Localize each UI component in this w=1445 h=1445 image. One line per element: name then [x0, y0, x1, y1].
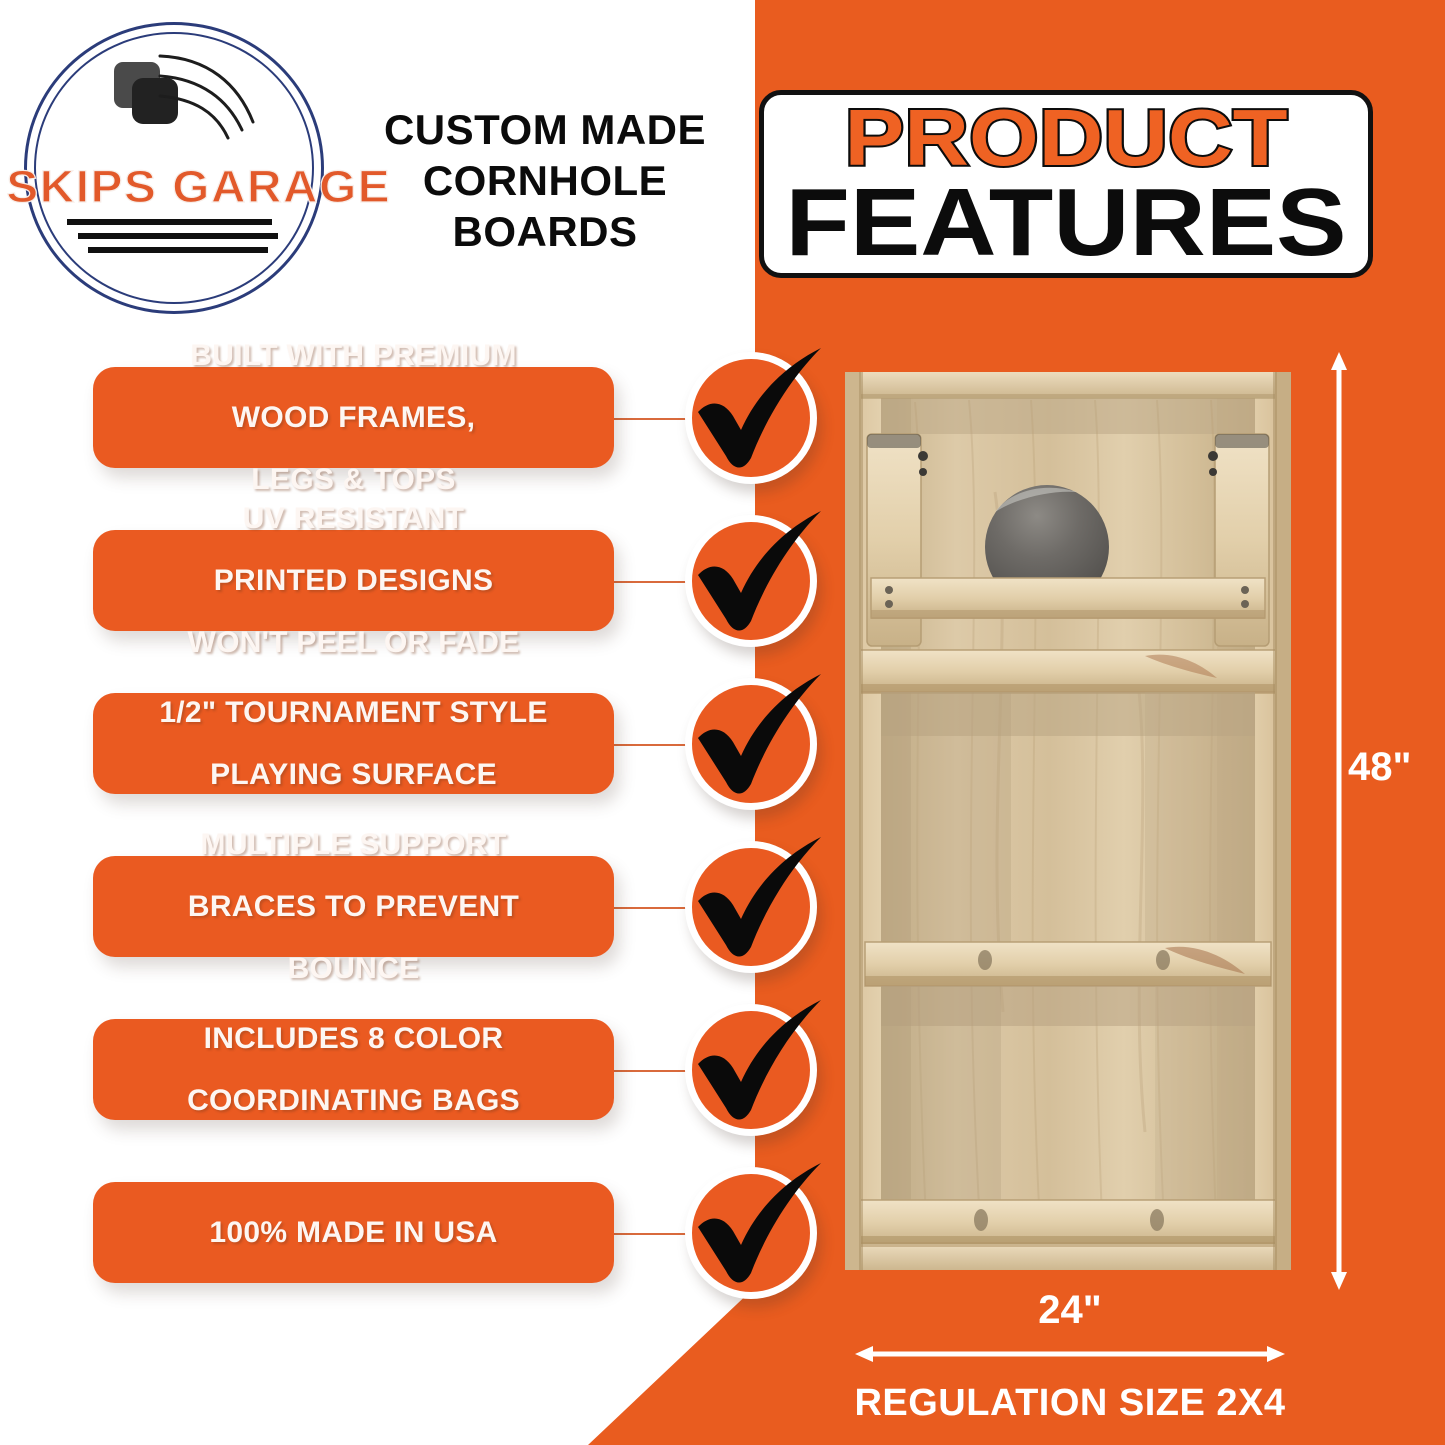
- feature-pill-2-text: UV RESISTANT PRINTED DESIGNS WON'T PEEL …: [111, 503, 596, 659]
- feature-pill-3[interactable]: 1/2" TOURNAMENT STYLE PLAYING SURFACE: [93, 693, 614, 794]
- feature-5-line-1: INCLUDES 8 COLOR: [111, 1023, 596, 1054]
- feature-pill-4-text: MULTIPLE SUPPORT BRACES TO PREVENT BOUNC…: [111, 829, 596, 985]
- feature-check-2: [685, 515, 817, 647]
- double-arrow-horizontal-icon: [855, 1345, 1285, 1363]
- feature-1-line-1: BUILT WITH PREMIUM: [111, 340, 596, 371]
- check-icon: [681, 664, 831, 814]
- logo-rule-2: [78, 233, 278, 239]
- check-icon: [681, 827, 831, 977]
- brand-logo: SKIPS GARAGE: [16, 14, 338, 324]
- page-title: CUSTOM MADE CORNHOLE BOARDS: [345, 104, 745, 258]
- feature-pill-5[interactable]: INCLUDES 8 COLOR COORDINATING BAGS: [93, 1019, 614, 1120]
- connector-line-5: [614, 1070, 688, 1072]
- feature-2-line-3: WON'T PEEL OR FADE: [111, 627, 596, 658]
- product-features-header: PRODUCT FEATURES: [759, 90, 1373, 278]
- page-title-line-3: BOARDS: [345, 206, 745, 257]
- feature-check-5: [685, 1004, 817, 1136]
- check-icon: [681, 1153, 831, 1303]
- feature-4-line-2: BRACES TO PREVENT: [111, 891, 596, 922]
- connector-line-3: [614, 744, 688, 746]
- feature-pill-1[interactable]: BUILT WITH PREMIUM WOOD FRAMES, LEGS & T…: [93, 367, 614, 468]
- connector-line-4: [614, 907, 688, 909]
- check-icon: [681, 501, 831, 651]
- feature-3-line-2: PLAYING SURFACE: [111, 759, 596, 790]
- header-title-features: FEATURES: [759, 177, 1373, 268]
- feature-1-line-3: LEGS & TOPS: [111, 464, 596, 495]
- header-title-product: PRODUCT: [759, 99, 1373, 177]
- page-title-line-2: CORNHOLE: [345, 155, 745, 206]
- check-icon: [681, 990, 831, 1140]
- feature-pill-2[interactable]: UV RESISTANT PRINTED DESIGNS WON'T PEEL …: [93, 530, 614, 631]
- feature-check-3: [685, 678, 817, 810]
- feature-pill-5-text: INCLUDES 8 COLOR COORDINATING BAGS: [111, 1023, 596, 1117]
- logo-rule-3: [88, 247, 268, 253]
- feature-3-line-1: 1/2" TOURNAMENT STYLE: [111, 697, 596, 728]
- height-dimension-label: 48": [1348, 745, 1411, 790]
- feature-pill-6-text: 100% MADE IN USA: [111, 1217, 596, 1248]
- motion-arcs-icon: [156, 52, 266, 147]
- feature-6-line-1: 100% MADE IN USA: [111, 1217, 596, 1248]
- logo-rule-1: [67, 219, 272, 225]
- feature-2-line-1: UV RESISTANT: [111, 503, 596, 534]
- feature-check-6: [685, 1167, 817, 1299]
- feature-pill-4[interactable]: MULTIPLE SUPPORT BRACES TO PREVENT BOUNC…: [93, 856, 614, 957]
- double-arrow-vertical-icon: [1330, 352, 1348, 1290]
- board-illustration: [845, 372, 1291, 1270]
- feature-4-line-3: BOUNCE: [111, 953, 596, 984]
- feature-pill-6[interactable]: 100% MADE IN USA: [93, 1182, 614, 1283]
- connector-line-6: [614, 1233, 688, 1235]
- feature-check-4: [685, 841, 817, 973]
- page-title-line-1: CUSTOM MADE: [345, 104, 745, 155]
- feature-pill-1-text: BUILT WITH PREMIUM WOOD FRAMES, LEGS & T…: [111, 340, 596, 496]
- feature-5-line-2: COORDINATING BAGS: [111, 1085, 596, 1116]
- feature-4-line-1: MULTIPLE SUPPORT: [111, 829, 596, 860]
- regulation-size-label: REGULATION SIZE 2X4: [830, 1382, 1310, 1425]
- width-dimension-label: 24": [855, 1288, 1285, 1333]
- check-icon: [681, 338, 831, 488]
- feature-check-1: [685, 352, 817, 484]
- feature-1-line-2: WOOD FRAMES,: [111, 402, 596, 433]
- logo-wordmark: SKIPS GARAGE: [6, 161, 347, 213]
- connector-line-1: [614, 418, 688, 420]
- feature-2-line-2: PRINTED DESIGNS: [111, 565, 596, 596]
- cornhole-board-underside-photo: [845, 372, 1291, 1270]
- connector-line-2: [614, 581, 688, 583]
- feature-pill-3-text: 1/2" TOURNAMENT STYLE PLAYING SURFACE: [111, 697, 596, 791]
